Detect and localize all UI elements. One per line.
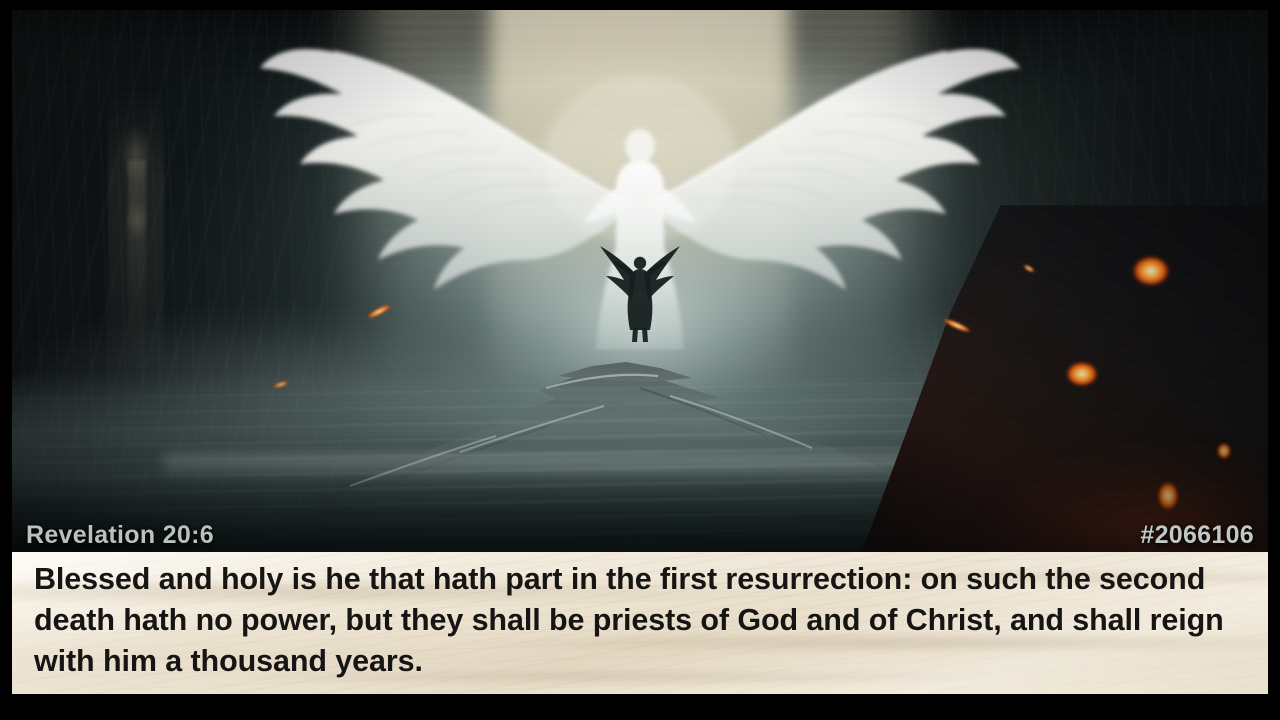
caption-text: Blessed and holy is he that hath part in… bbox=[34, 559, 1250, 682]
caption-bar: Blessed and holy is he that hath part in… bbox=[12, 552, 1268, 694]
verse-id-badge: #2066106 bbox=[1140, 521, 1254, 550]
scripture-artwork bbox=[12, 10, 1268, 552]
film-grain bbox=[12, 10, 1268, 552]
video-frame: Revelation 20:6 #2066106 Blessed and hol… bbox=[0, 0, 1280, 720]
scripture-reference: Revelation 20:6 bbox=[26, 521, 214, 550]
